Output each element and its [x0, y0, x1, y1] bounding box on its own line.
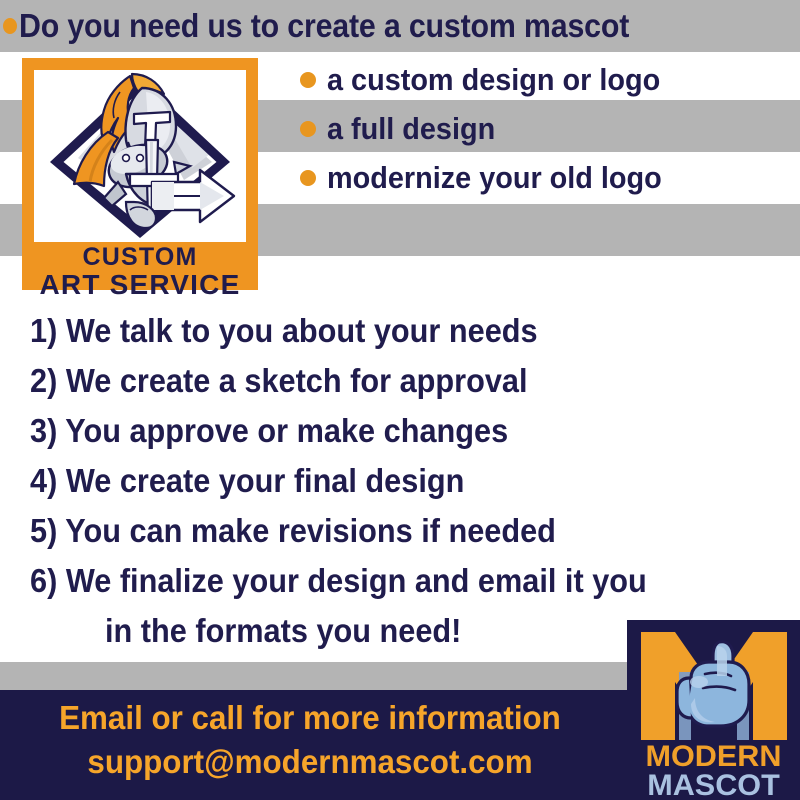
list-item: a full design: [300, 104, 800, 153]
list-item: a custom design or logo: [300, 55, 800, 104]
list-item: 1) We talk to you about your needs: [30, 306, 790, 356]
step-text: 4) We create your final design: [30, 462, 464, 500]
flyer-page: Do you need us to create a custom mascot: [0, 0, 800, 800]
modern-mascot-logo: MODERN MASCOT: [627, 620, 800, 800]
bullet-label: a custom design or logo: [327, 62, 660, 98]
bullet-label: modernize your old logo: [327, 160, 662, 196]
list-item: modernize your old logo: [300, 153, 800, 202]
list-item: 2) We create a sketch for approval: [30, 356, 790, 406]
step-text: 5) You can make revisions if needed: [30, 512, 556, 550]
wordmark-modern: MODERN: [627, 742, 800, 771]
step-text: 2) We create a sketch for approval: [30, 362, 528, 400]
process-steps-list: 1) We talk to you about your needs 2) We…: [30, 306, 790, 656]
list-item: 3) You approve or make changes: [30, 406, 790, 456]
step-text: 3) You approve or make changes: [30, 412, 508, 450]
header-banner: Do you need us to create a custom mascot: [0, 0, 800, 52]
art-logo-caption-line2: ART SERVICE: [34, 271, 246, 300]
step-text: in the formats you need!: [105, 612, 461, 650]
footer-line-1: Email or call for more information: [16, 696, 605, 740]
orange-dot-bullet-icon: [300, 72, 316, 88]
footer-line-2[interactable]: support@modernmascot.com: [16, 740, 605, 784]
list-item: 5) You can make revisions if needed: [30, 506, 790, 556]
orange-dot-bullet-icon: [300, 170, 316, 186]
modern-mascot-wordmark: MODERN MASCOT: [627, 742, 800, 800]
orange-dot-bullet-icon: [300, 121, 316, 137]
knight-mascot-icon: [34, 70, 246, 242]
list-item: 6) We finalize your design and email it …: [30, 556, 790, 606]
step-text: 6) We finalize your design and email it …: [30, 562, 647, 600]
wordmark-mascot: MASCOT: [627, 771, 800, 800]
modern-mascot-m-foam-finger-icon: [633, 626, 795, 746]
bullet-label: a full design: [327, 111, 495, 147]
contact-info: Email or call for more information suppo…: [0, 696, 620, 783]
service-bullet-list: a custom design or logo a full design mo…: [300, 55, 800, 202]
page-title: Do you need us to create a custom mascot: [19, 7, 629, 45]
art-logo-caption: CUSTOM ART SERVICE: [34, 245, 246, 299]
art-logo-caption-line1: CUSTOM: [34, 245, 246, 271]
custom-art-service-logo: CUSTOM ART SERVICE: [22, 58, 258, 290]
step-text: 1) We talk to you about your needs: [30, 312, 538, 350]
list-item: 4) We create your final design: [30, 456, 790, 506]
orange-dot-bullet-icon: [3, 18, 17, 34]
